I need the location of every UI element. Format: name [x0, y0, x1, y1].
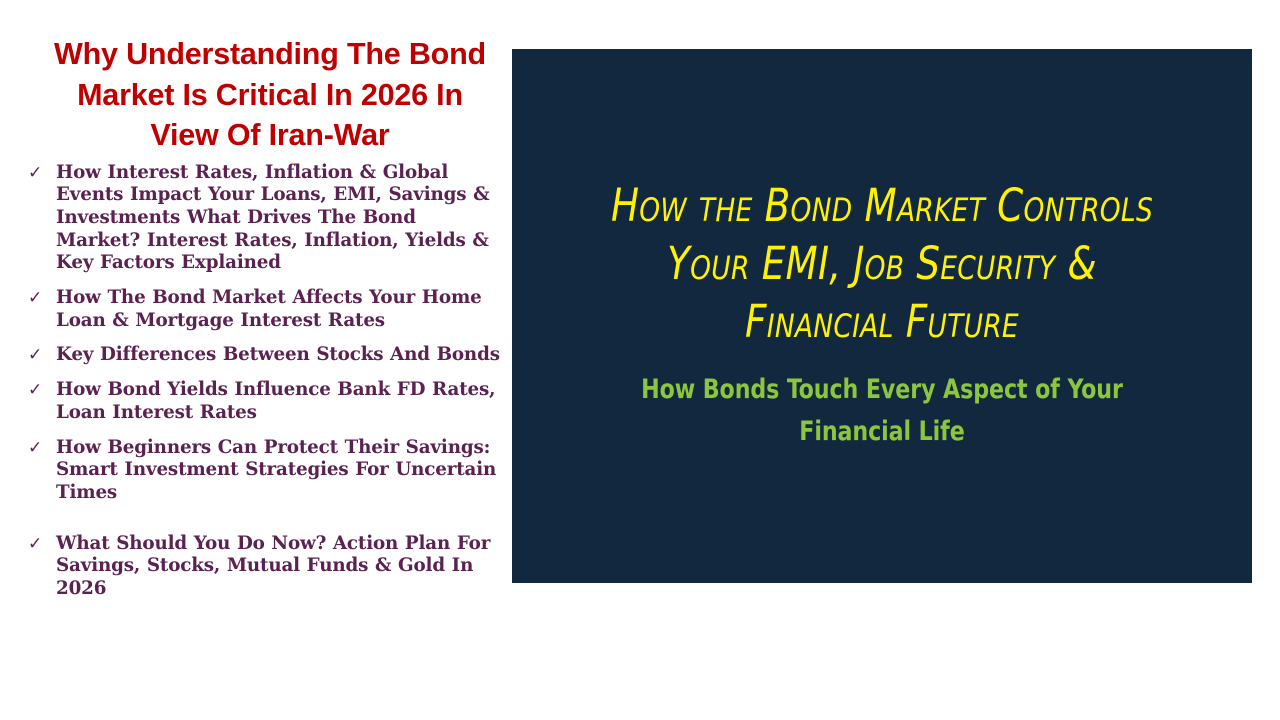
list-item-label: How Beginners Can Protect Their Savings:… [56, 437, 496, 503]
list-item-label: Key Differences Between Stocks And Bonds [56, 344, 500, 365]
list-item: ✓ How Bond Yields Influence Bank FD Rate… [14, 379, 500, 424]
list-item-label: How Interest Rates, Inflation & Global E… [56, 162, 490, 274]
panel-headline: How the Bond Market Controls Your EMI, J… [588, 177, 1177, 351]
list-item: ✓ How The Bond Market Affects Your Home … [14, 287, 500, 332]
check-mark-icon: ✓ [28, 162, 48, 185]
list-item-label: How The Bond Market Affects Your Home Lo… [56, 287, 482, 331]
title-panel-content: How the Bond Market Controls Your EMI, J… [562, 177, 1202, 453]
list-item: ✓ Key Differences Between Stocks And Bon… [14, 344, 500, 367]
left-content-column: Why Understanding The Bond Market Is Cri… [14, 34, 500, 613]
list-item: ✓ What Should You Do Now? Action Plan Fo… [14, 533, 500, 601]
presentation-slide: Why Understanding The Bond Market Is Cri… [0, 0, 1280, 720]
check-mark-icon: ✓ [28, 533, 48, 556]
list-item: ✓ How Beginners Can Protect Their Saving… [14, 437, 500, 505]
title-panel: How the Bond Market Controls Your EMI, J… [512, 49, 1252, 583]
check-mark-icon: ✓ [28, 287, 48, 310]
list-item: ✓ How Interest Rates, Inflation & Global… [14, 162, 500, 276]
check-mark-icon: ✓ [28, 379, 48, 402]
list-item-label: How Bond Yields Influence Bank FD Rates,… [56, 379, 495, 423]
bullet-list: ✓ How Interest Rates, Inflation & Global… [14, 162, 500, 601]
check-mark-icon: ✓ [28, 344, 48, 367]
panel-subtitle: How Bonds Touch Every Aspect of Your Fin… [584, 369, 1179, 453]
page-title: Why Understanding The Bond Market Is Cri… [14, 34, 500, 156]
list-item-label: What Should You Do Now? Action Plan For … [56, 533, 490, 599]
check-mark-icon: ✓ [28, 437, 48, 460]
